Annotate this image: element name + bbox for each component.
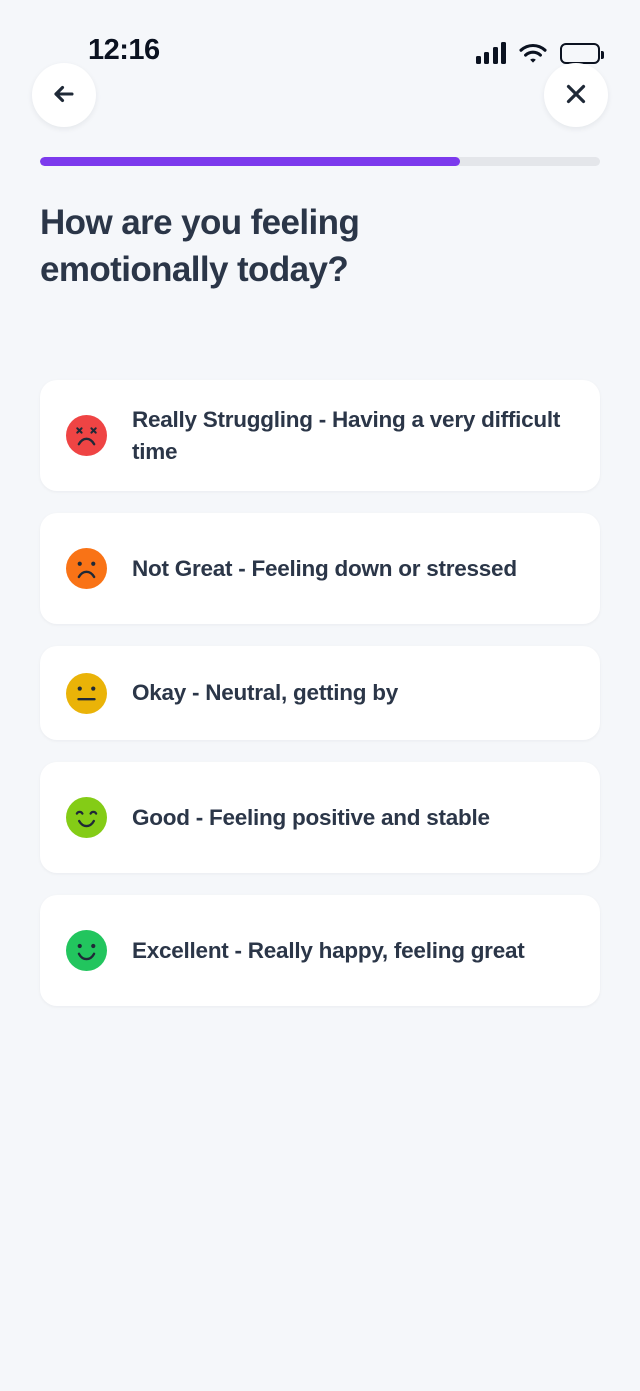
mood-option-label: Really Struggling - Having a very diffic…	[132, 404, 574, 468]
mood-check-in-screen: 12:16	[0, 0, 640, 1391]
close-button[interactable]	[544, 63, 608, 127]
mood-option-really-struggling[interactable]: Really Struggling - Having a very diffic…	[40, 380, 600, 491]
mood-option-excellent[interactable]: Excellent - Really happy, feeling great	[40, 895, 600, 1006]
mood-option-label: Okay - Neutral, getting by	[132, 677, 398, 709]
face-dizzy-red-icon	[66, 415, 107, 456]
mood-option-not-great[interactable]: Not Great - Feeling down or stressed	[40, 513, 600, 624]
status-bar-time: 12:16	[88, 36, 160, 65]
mood-options-list: Really Struggling - Having a very diffic…	[40, 380, 600, 1028]
cellular-signal-icon	[476, 42, 507, 64]
back-button[interactable]	[32, 63, 96, 127]
face-neutral-yellow-icon	[66, 673, 107, 714]
mood-option-good[interactable]: Good - Feeling positive and stable	[40, 762, 600, 873]
mood-option-label: Excellent - Really happy, feeling great	[132, 935, 524, 967]
status-bar-icons	[476, 38, 601, 64]
face-smile-green-icon	[66, 930, 107, 971]
face-frown-orange-icon	[66, 548, 107, 589]
status-bar: 12:16	[0, 0, 640, 72]
close-icon	[562, 80, 590, 111]
progress-bar-fill	[40, 157, 460, 166]
mood-option-okay[interactable]: Okay - Neutral, getting by	[40, 646, 600, 740]
battery-icon	[560, 43, 600, 64]
arrow-left-icon	[49, 79, 79, 112]
face-smile-happy-lightgreen-icon	[66, 797, 107, 838]
progress-bar-track	[40, 157, 600, 166]
mood-option-label: Not Great - Feeling down or stressed	[132, 553, 517, 585]
mood-option-label: Good - Feeling positive and stable	[132, 802, 490, 834]
wifi-icon	[519, 42, 547, 64]
page-title: How are you feeling emotionally today?	[40, 199, 510, 294]
